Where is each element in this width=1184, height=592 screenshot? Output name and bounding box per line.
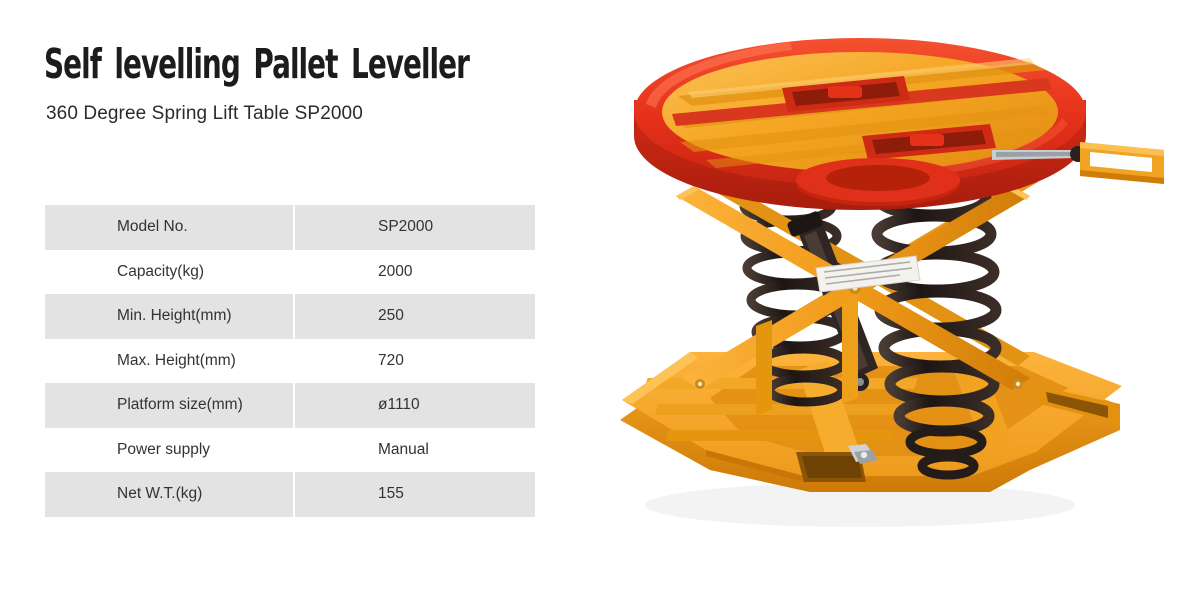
- spec-value: 2000: [295, 250, 535, 295]
- spec-label: Min. Height(mm): [45, 294, 293, 339]
- table-row: Capacity(kg)2000: [45, 250, 535, 295]
- spec-value: 155: [295, 472, 535, 517]
- lift-table-illustration: [560, 0, 1184, 592]
- turntable-hub: [796, 158, 960, 206]
- spec-label: Platform size(mm): [45, 383, 293, 428]
- product-image: [560, 0, 1184, 592]
- spec-label: Max. Height(mm): [45, 339, 293, 384]
- page-title: Self levelling Pallet Leveller: [44, 42, 469, 86]
- spec-value: 250: [295, 294, 535, 339]
- spec-label: Net W.T.(kg): [45, 472, 293, 517]
- specifications-table: Model No.SP2000Capacity(kg)2000Min. Heig…: [45, 205, 535, 517]
- spec-value: ø1110: [295, 383, 535, 428]
- page-subtitle: 360 Degree Spring Lift Table SP2000: [46, 102, 363, 126]
- table-row: Net W.T.(kg)155: [45, 472, 535, 517]
- spec-label: Capacity(kg): [45, 250, 293, 295]
- product-spec-page: Self levelling Pallet Leveller 360 Degre…: [0, 0, 1184, 592]
- table-row: Min. Height(mm)250: [45, 294, 535, 339]
- spec-label: Power supply: [45, 428, 293, 473]
- table-row: Max. Height(mm)720: [45, 339, 535, 384]
- spec-value: 720: [295, 339, 535, 384]
- spec-value: SP2000: [295, 205, 535, 250]
- spec-table-body: Model No.SP2000Capacity(kg)2000Min. Heig…: [45, 205, 535, 517]
- spec-label: Model No.: [45, 205, 293, 250]
- spec-value: Manual: [295, 428, 535, 473]
- left-content-pane: Self levelling Pallet Leveller 360 Degre…: [0, 0, 560, 592]
- table-row: Power supplyManual: [45, 428, 535, 473]
- table-row: Platform size(mm)ø1110: [45, 383, 535, 428]
- table-row: Model No.SP2000: [45, 205, 535, 250]
